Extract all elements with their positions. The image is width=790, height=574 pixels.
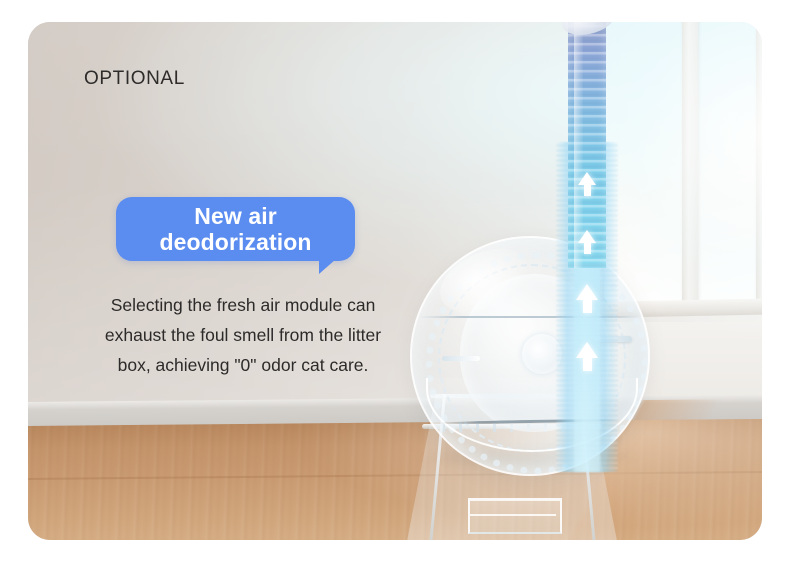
waste-drawer bbox=[468, 498, 562, 534]
description-line-1: Selecting the fresh air module can bbox=[88, 290, 398, 320]
airflow-arrow-stem bbox=[584, 242, 591, 254]
description-line-2: exhaust the foul smell from the litter bbox=[88, 320, 398, 350]
feature-badge-bubble: New air deodorization bbox=[116, 197, 355, 261]
feature-badge-line-1: New air bbox=[194, 203, 277, 229]
airflow-arrow-stem bbox=[584, 184, 591, 196]
sphere-side-handle-left bbox=[442, 356, 480, 361]
waste-drawer-handle bbox=[470, 514, 556, 516]
product-feature-card: OPTIONAL New air deodorization Selecting… bbox=[28, 22, 762, 540]
feature-badge-tail bbox=[319, 259, 336, 274]
airflow-arrow-icon bbox=[576, 284, 598, 300]
description-line-3: box, achieving "0" odor cat care. bbox=[88, 350, 398, 380]
airflow-arrow-icon bbox=[576, 342, 598, 358]
feature-description: Selecting the fresh air module can exhau… bbox=[88, 290, 398, 380]
wood-floor bbox=[28, 419, 762, 540]
floor-light-pool bbox=[28, 419, 762, 540]
optional-eyebrow-label: OPTIONAL bbox=[84, 68, 185, 90]
window-mullion-right bbox=[756, 22, 762, 304]
airflow-arrow-stem bbox=[583, 357, 592, 371]
window-mullion-left bbox=[682, 22, 698, 304]
page-root: OPTIONAL New air deodorization Selecting… bbox=[0, 0, 790, 574]
airflow-arrow-stem bbox=[583, 299, 592, 313]
feature-badge-line-2: deodorization bbox=[159, 229, 311, 255]
feature-badge-text: New air deodorization bbox=[149, 203, 321, 255]
